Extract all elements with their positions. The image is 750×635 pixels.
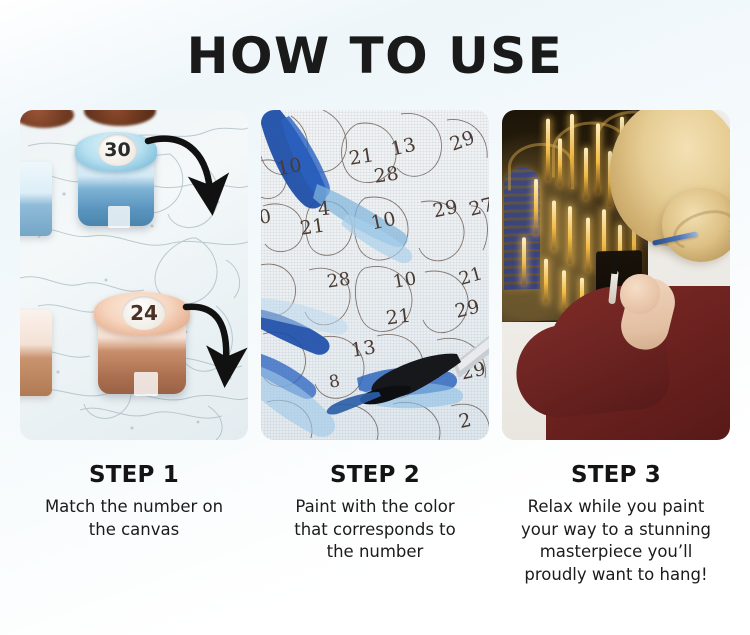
step-3-title: STEP 3 — [502, 462, 730, 488]
painter-hand — [620, 274, 660, 314]
candle — [586, 218, 590, 272]
candle — [596, 123, 600, 193]
candle — [570, 114, 574, 188]
candle — [562, 270, 566, 310]
candle — [546, 119, 550, 181]
candle — [558, 138, 562, 186]
painter-hair-bun — [662, 188, 730, 262]
step-3-description: Relax while you paint your way to a stun… — [502, 496, 730, 586]
candle — [552, 200, 556, 250]
arrow-from-pot-24 — [186, 307, 226, 362]
step-3-image — [502, 110, 730, 440]
step-2-title: STEP 2 — [261, 462, 489, 488]
step-column-2: 10 21 13 29 28 4 10 29 27 21 0 28 21 13 … — [261, 110, 489, 586]
paintbrush — [261, 110, 489, 440]
step-2-description: Paint with the color that corresponds to… — [261, 496, 489, 564]
candle — [522, 237, 526, 285]
step-1-title: STEP 1 — [20, 462, 248, 488]
step-2-image: 10 21 13 29 28 4 10 29 27 21 0 28 21 13 … — [261, 110, 489, 440]
candle — [534, 179, 538, 235]
steps-row: 30 24 STEP — [20, 110, 730, 586]
step-column-1: 30 24 STEP — [20, 110, 248, 586]
instruction-arrows — [20, 110, 248, 440]
step-column-3: STEP 3 Relax while you paint your way to… — [502, 110, 730, 586]
page-title: HOW TO USE — [0, 27, 750, 85]
arrow-from-pot-30 — [148, 139, 210, 190]
candle — [544, 259, 548, 303]
step-1-image: 30 24 — [20, 110, 248, 440]
step-1-description: Match the number on the canvas — [20, 496, 248, 541]
candle — [568, 206, 572, 264]
candle — [584, 148, 588, 200]
how-to-use-page: HOW TO USE — [0, 0, 750, 635]
